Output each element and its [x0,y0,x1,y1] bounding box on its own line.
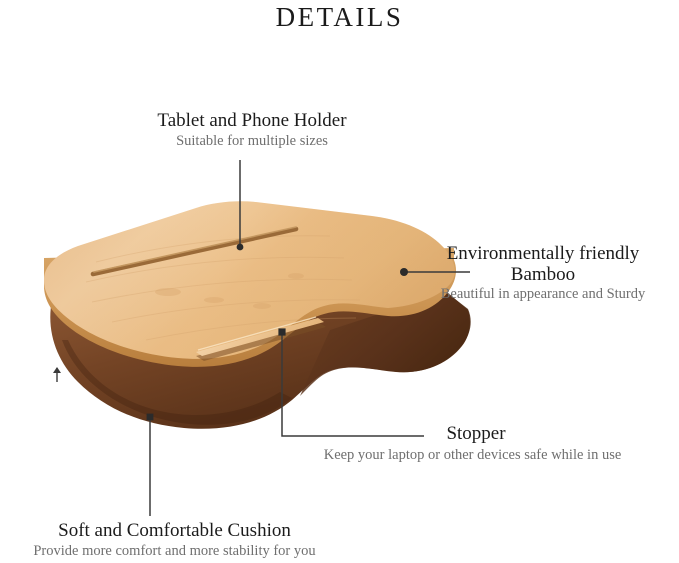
infographic-canvas: DETAILS [0,0,679,563]
leader-line-stopper [282,332,424,436]
callout-heading-stopper: Stopper [356,423,596,445]
callout-subtitle-stopper: Keep your laptop or other devices safe w… [266,447,679,464]
callout-subtitle-tablet-phone-holder: Suitable for multiple sizes [0,133,504,150]
callout-heading-cushion: Soft and Comfortable Cushion [0,520,349,542]
marker-dot-cushion [147,414,154,421]
callout-subtitle-bamboo: Beautiful in appearance and Sturdy [407,286,679,303]
marker-dot-tablet-holder [237,244,244,251]
callout-heading-bamboo-line1: Environmentally friendly [407,243,679,265]
callout-subtitle-cushion: Provide more comfort and more stability … [0,543,349,560]
callout-heading-bamboo-line2: Bamboo [407,264,679,286]
marker-dot-stopper [278,328,285,335]
callout-heading-tablet-phone-holder: Tablet and Phone Holder [0,110,504,132]
